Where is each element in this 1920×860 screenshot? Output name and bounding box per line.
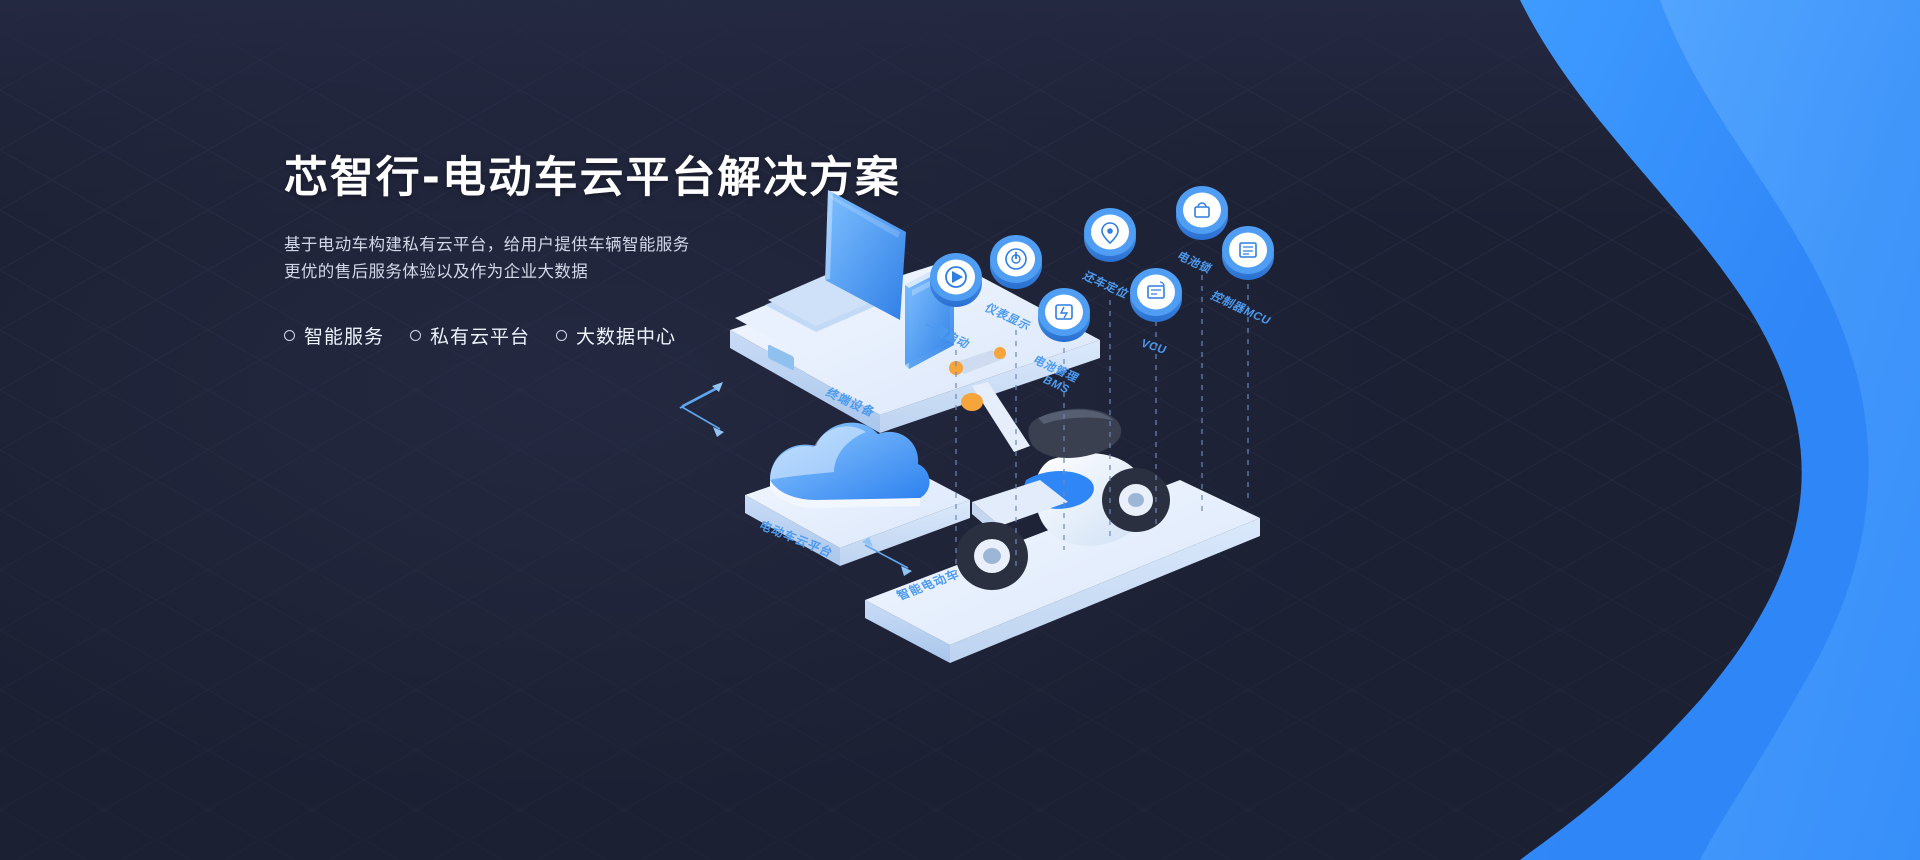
hero-banner: 芯智行-电动车云平台解决方案 基于电动车构建私有云平台，给用户提供车辆智能服务 … xyxy=(0,0,1920,860)
badge-label-mcu-controller: 控制器MCU xyxy=(1208,289,1274,327)
feature-label: 智能服务 xyxy=(304,322,384,349)
feature-item-smart-service[interactable]: 智能服务 xyxy=(284,322,384,349)
circle-bullet-icon xyxy=(284,330,295,341)
circle-bullet-icon xyxy=(556,330,567,341)
scooter-front-wheel xyxy=(956,522,1028,590)
isometric-diagram: 终端设备 xyxy=(620,150,1920,750)
badge-label-vcu: VCU xyxy=(1139,338,1169,357)
feature-item-private-cloud[interactable]: 私有云平台 xyxy=(410,322,530,349)
badge-label-return-location: 还车定位 xyxy=(1079,269,1131,301)
badge-battery-lock[interactable]: 电池锁 xyxy=(1174,186,1228,276)
badge-return-location[interactable]: 还车定位 xyxy=(1079,208,1136,301)
scooter-rear-wheel xyxy=(1102,468,1170,532)
cloud-icon xyxy=(770,423,930,508)
badge-mcu-controller[interactable]: 控制器MCU xyxy=(1208,226,1274,327)
feature-label: 私有云平台 xyxy=(430,322,530,349)
circle-bullet-icon xyxy=(410,330,421,341)
badge-vcu[interactable]: VCU xyxy=(1130,268,1182,357)
badge-label-battery-lock: 电池锁 xyxy=(1174,249,1215,276)
connector-terminal-to-cloud xyxy=(680,382,724,437)
